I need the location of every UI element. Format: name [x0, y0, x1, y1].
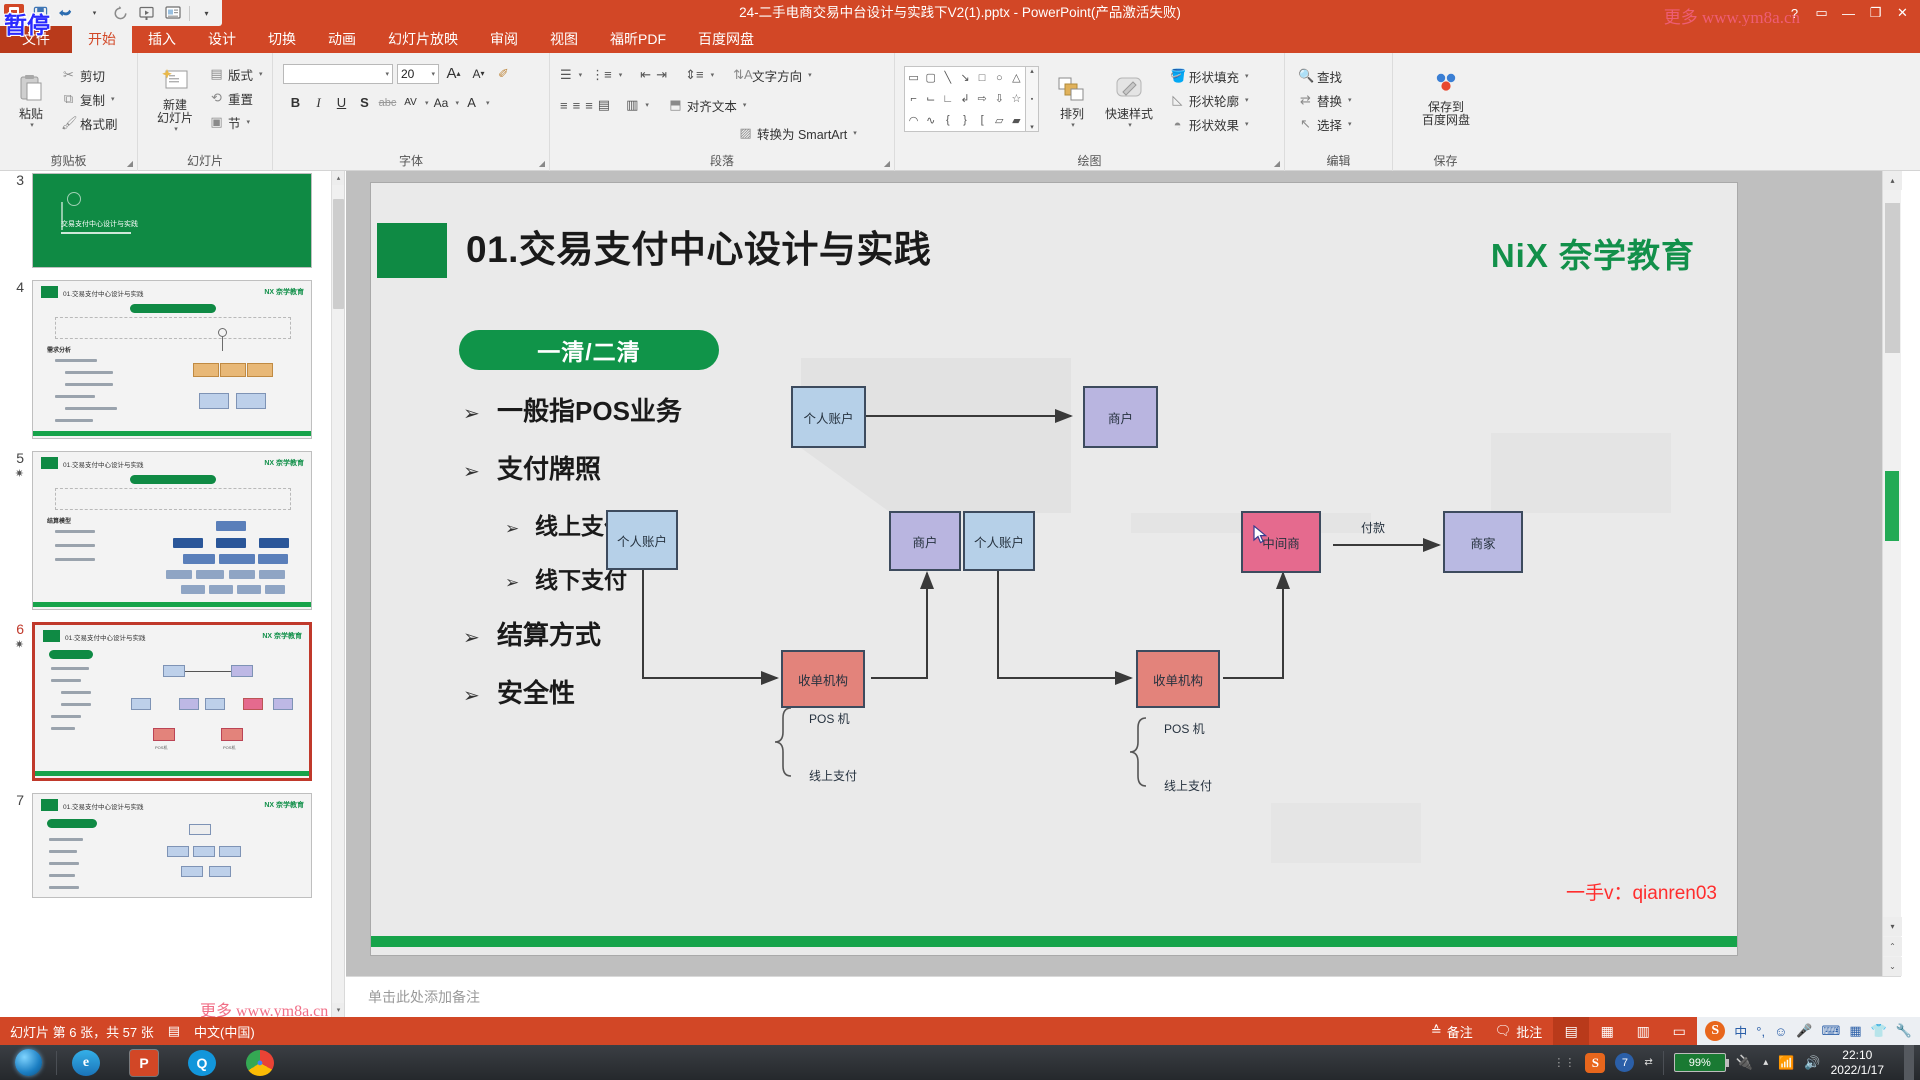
layout-label: 版式 — [228, 65, 253, 84]
taskbar-clock[interactable]: 22:10 2022/1/17 — [1831, 1048, 1890, 1078]
shape-outline-label: 形状轮廓 — [1189, 91, 1239, 110]
qat-divider — [189, 6, 190, 21]
bullet-marker-icon: ➢ — [505, 573, 535, 593]
thumb-pill — [49, 650, 93, 659]
tab-slideshow[interactable]: 幻灯片放映 — [372, 26, 474, 53]
ime-settings-icon[interactable]: 🔧 — [1896, 1023, 1912, 1039]
shape-roundrect-icon[interactable]: ▢ — [926, 71, 936, 84]
brace-label-online-pay-2: 线上支付 — [1164, 777, 1212, 794]
columns-dropdown-icon[interactable]: ▾ — [645, 101, 649, 109]
clock-date: 2022/1/17 — [1831, 1063, 1884, 1077]
thumbnail-row[interactable]: 6 ✷ 01.交易支付中心设计与实践 NX 奈学教育 — [0, 616, 344, 787]
start-slideshow-icon[interactable] — [137, 4, 156, 23]
tray-security-icon[interactable]: 7 — [1615, 1053, 1634, 1072]
line-spacing-icon[interactable]: ⇕≡ — [685, 67, 703, 83]
paintbrush-icon: 🖌 — [61, 115, 76, 131]
edge-label-payment: 付款 — [1361, 519, 1385, 536]
replace-dropdown-icon[interactable]: ▾ — [1348, 96, 1352, 104]
tab-animations[interactable]: 动画 — [312, 26, 372, 53]
current-slide[interactable]: 01.交易支付中心设计与实践 NiX 奈学教育 一清/二清 ➢ 一般指POS业务… — [371, 183, 1737, 955]
scissors-icon: ✂ — [61, 67, 76, 83]
bullets-icon[interactable]: ☰ — [560, 67, 572, 83]
comment-bubble-icon: 🗨 — [1495, 1023, 1512, 1039]
format-painter-label: 格式刷 — [80, 114, 118, 133]
ime-emoji-icon[interactable]: ☺ — [1774, 1024, 1787, 1039]
font-color-dropdown-icon[interactable]: ▾ — [486, 99, 490, 107]
shape-arrow-icon[interactable]: ↘ — [960, 71, 969, 84]
network-icon[interactable]: 📶 — [1778, 1055, 1794, 1071]
numbering-dropdown-icon[interactable]: ▾ — [619, 71, 623, 79]
slide-thumbnail-3[interactable]: 交易支付中心设计与实践 — [32, 173, 312, 268]
shape-star-icon[interactable]: ☆ — [1011, 92, 1021, 105]
copy-dropdown-icon[interactable]: ▾ — [111, 95, 115, 103]
tray-overflow-icon[interactable]: ⋮⋮ — [1553, 1056, 1575, 1069]
thumb-heading: 需求分析 — [47, 345, 71, 354]
text-direction-button[interactable]: ⇅A 文字方向 ▾ — [730, 63, 815, 87]
font-size-value: 20 — [401, 67, 414, 81]
diagram-node-merchant-1[interactable]: 商户 — [1083, 386, 1158, 448]
font-size-input[interactable]: 20 ▾ — [397, 64, 439, 84]
scroll-down-icon[interactable]: ▾ — [1883, 917, 1902, 936]
ribbon-group-paragraph: ☰▾ ⋮≡▾ ⇤ ⇥ ⇕≡▾ ⇅A 文字方向 ▾ ≡ ≡ ≡ ▤ — [550, 53, 895, 171]
next-slide-button[interactable]: ⌄ — [1883, 957, 1902, 976]
text-direction-icon: ⇅A — [733, 67, 748, 83]
cursor-arrow-icon: ↖ — [1298, 116, 1313, 132]
shape-brace-right-icon[interactable]: } — [963, 114, 967, 126]
thumbnail-row[interactable]: 3 交易支付中心设计与实践 — [0, 171, 344, 274]
notes-pane[interactable]: 单击此处添加备注 — [346, 976, 1901, 1017]
ime-mode-icon[interactable]: 中 — [1734, 1022, 1747, 1041]
slide-title[interactable]: 01.交易支付中心设计与实践 — [466, 219, 931, 273]
ime-punctuation-icon[interactable]: °, — [1756, 1024, 1765, 1039]
tab-view[interactable]: 视图 — [534, 26, 594, 53]
section-pill[interactable]: 一清/二清 — [459, 330, 719, 370]
character-spacing-button[interactable]: AV — [400, 92, 421, 113]
align-right-icon[interactable]: ≡ — [585, 98, 593, 113]
panel-watermark: 更多 www.ym8a.cn — [200, 997, 328, 1017]
redo-icon[interactable] — [111, 4, 130, 23]
view-slideshow-button[interactable]: ▭ — [1661, 1017, 1697, 1045]
tab-foxit-pdf[interactable]: 福昕PDF — [594, 26, 682, 53]
shape-triangle-icon[interactable]: △ — [1012, 71, 1020, 84]
find-button[interactable]: 🔍 查找 — [1295, 64, 1392, 88]
layout-button[interactable]: ▤ 版式 ▾ — [206, 62, 266, 86]
thumbnail-number: 4 — [16, 279, 24, 295]
show-desktop-button[interactable] — [1904, 1045, 1914, 1080]
bullet-item[interactable]: ➢ 一般指POS业务 — [463, 391, 793, 428]
panel-scroll-thumb[interactable] — [333, 199, 344, 309]
binoculars-icon: 🔍 — [1298, 68, 1313, 84]
powerpoint-taskbar-icon: P — [130, 1050, 158, 1076]
shape-arc-icon[interactable]: ◠ — [909, 114, 919, 127]
comments-toggle-button[interactable]: 🗨 批注 — [1484, 1017, 1554, 1045]
outline-pen-icon: ◺ — [1170, 92, 1185, 108]
slide-thumbnail-panel[interactable]: 3 交易支付中心设计与实践 4 01.交易支付中心设计与实践 NX 奈学教育 — [0, 171, 345, 1017]
shape-connector-icon[interactable]: ⌐ — [910, 93, 916, 105]
strikethrough-button[interactable]: abc — [377, 92, 398, 113]
bullets-dropdown-icon[interactable]: ▾ — [579, 71, 583, 79]
system-tray: ⋮⋮ S 7 ⇄ 99% 🔌 ▴ 📶 🔊 22:10 2022/1/17 — [1553, 1045, 1920, 1080]
italic-button[interactable]: I — [308, 92, 329, 113]
shape-rect-icon[interactable]: ▭ — [908, 71, 918, 84]
shapes-scroll-thumb-icon[interactable]: ▪ — [1031, 96, 1033, 103]
shapes-gallery-scrollbar[interactable]: ▴ ▪ ▾ — [1026, 66, 1039, 132]
tab-home[interactable]: 开始 — [72, 26, 132, 53]
taskbar-item-edge[interactable]: e — [57, 1045, 115, 1080]
new-slide-qat-icon[interactable] — [163, 4, 182, 23]
align-text-dropdown-icon[interactable]: ▾ — [743, 101, 747, 109]
undo-dropdown-icon[interactable]: ▾ — [85, 4, 104, 23]
sogou-logo-icon[interactable]: S — [1705, 1021, 1725, 1041]
tab-insert[interactable]: 插入 — [132, 26, 192, 53]
slides-group-label: 幻灯片 — [138, 152, 272, 169]
edge-browser-icon: e — [72, 1050, 100, 1076]
restore-button[interactable]: ❐ — [1868, 5, 1883, 21]
tray-sync-icon[interactable]: ⇄ — [1644, 1057, 1652, 1068]
save-to-baidu-button[interactable]: 保存到百度网盘 — [1407, 63, 1485, 127]
bullet-item[interactable]: ➢ 结算方式 — [463, 615, 793, 652]
start-button[interactable] — [0, 1045, 56, 1080]
thumbnail-number: 7 — [16, 792, 24, 808]
tab-design[interactable]: 设计 — [192, 26, 252, 53]
copy-label: 复制 — [80, 90, 105, 109]
sogou-ime-toolbar[interactable]: S 中 °, ☺ 🎤 ⌨ ▦ 👕 🔧 — [1697, 1017, 1920, 1045]
bullet-text: 结算方式 — [497, 615, 601, 652]
diagram-node-personal-account-1[interactable]: 个人账户 — [791, 386, 866, 448]
font-dialog-launcher[interactable]: ◢ — [539, 159, 545, 168]
ribbon-tab-strip: 文件 开始 插入 设计 切换 动画 幻灯片放映 审阅 视图 福昕PDF 百度网盘… — [0, 26, 1920, 53]
view-slide-sorter-button[interactable]: ▦ — [1589, 1017, 1625, 1045]
text-direction-dropdown-icon[interactable]: ▾ — [808, 71, 812, 79]
shape-outline-dropdown-icon[interactable]: ▾ — [1245, 96, 1249, 104]
bullet-marker-icon: ➢ — [463, 625, 497, 650]
undo-icon[interactable] — [57, 4, 76, 23]
shape-square-icon[interactable]: □ — [979, 72, 986, 84]
font-size-dropdown-icon[interactable]: ▾ — [431, 70, 435, 78]
justify-icon[interactable]: ▤ — [598, 97, 610, 113]
thumb-red-note — [45, 590, 195, 596]
shape-bracket-icon[interactable]: [ — [981, 114, 984, 126]
slide-accent-square — [377, 223, 447, 278]
select-button[interactable]: ↖ 选择 ▾ — [1295, 112, 1392, 136]
shape-brace-left-icon[interactable]: { — [946, 114, 950, 126]
thumb-bottom-bar — [35, 771, 309, 776]
taskbar-item-chrome[interactable]: ● — [231, 1045, 289, 1080]
minimize-button[interactable]: — — [1841, 6, 1856, 21]
shape-outline-button[interactable]: ◺ 形状轮廓 ▾ — [1167, 88, 1252, 112]
tab-review[interactable]: 审阅 — [474, 26, 534, 53]
bullet-text: 安全性 — [497, 673, 575, 710]
ribbon: 粘贴 ▾ ✂ 剪切 ⧉ 复制 ▾ 🖌 格式刷 — [0, 53, 1920, 171]
cut-button[interactable]: ✂ 剪切 — [58, 63, 121, 87]
character-spacing-dropdown-icon[interactable]: ▾ — [425, 99, 429, 107]
ribbon-display-options-icon[interactable]: ▭ — [1814, 5, 1829, 21]
ime-microphone-icon[interactable]: 🎤 — [1796, 1023, 1812, 1039]
window-controls: ? ▭ — ❐ ✕ — [1787, 0, 1916, 26]
clipboard-dialog-launcher[interactable]: ◢ — [127, 159, 133, 168]
slide-panel-scrollbar[interactable]: ▴ ▾ — [331, 171, 344, 1017]
select-dropdown-icon[interactable]: ▾ — [1348, 120, 1352, 128]
section-icon: ▣ — [209, 114, 224, 130]
thumb-title: 01.交易支付中心设计与实践 — [63, 459, 144, 469]
clear-formatting-icon[interactable]: ✐ — [493, 63, 514, 84]
paste-button[interactable]: 粘贴 ▾ — [8, 68, 54, 129]
shape-elbow-icon[interactable]: ⌙ — [926, 92, 935, 105]
fill-bucket-icon: 🪣 — [1170, 68, 1185, 84]
diagram-node-personal-account-3[interactable]: 个人账户 — [963, 511, 1035, 571]
reset-icon: ⟲ — [209, 90, 224, 106]
increase-font-size-button[interactable]: A▴ — [443, 63, 464, 84]
shape-line-icon[interactable]: ╲ — [945, 71, 952, 84]
brace-label-pos-2: POS 机 — [1164, 720, 1205, 737]
notes-placeholder: 单击此处添加备注 — [368, 987, 480, 1007]
text-direction-label: 文字方向 — [752, 66, 802, 85]
ribbon-group-font: ▾ 20 ▾ A▴ A▾ ✐ B I U S abc AV ▾ Aa ▾ — [273, 53, 550, 171]
diagram-node-acquirer-2[interactable]: 收单机构 — [1136, 650, 1220, 708]
shapes-gallery-more-icon[interactable]: ▾ — [1030, 123, 1034, 131]
customize-qat-icon[interactable]: ▾ — [197, 4, 216, 23]
nx-logo: NiX 奈学教育 — [1491, 229, 1695, 277]
diagram-node-personal-account-2[interactable]: 个人账户 — [606, 510, 678, 570]
shape-down-arrow-icon[interactable]: ⇩ — [995, 92, 1004, 105]
ribbon-group-editing: 🔍 查找 ⇄ 替换 ▾ ↖ 选择 ▾ 编辑 — [1285, 53, 1393, 171]
qq-icon: Q — [188, 1050, 216, 1076]
new-slide-button[interactable]: 新建幻灯片 ▾ — [146, 61, 204, 133]
bold-button[interactable]: B — [285, 92, 306, 113]
ime-skin-icon[interactable]: 👕 — [1871, 1023, 1887, 1039]
paste-icon — [18, 74, 44, 108]
ribbon-group-save: 保存到百度网盘 保存 — [1393, 53, 1498, 171]
view-reading-button[interactable]: ▥ — [1625, 1017, 1661, 1045]
replace-label: 替换 — [1317, 91, 1342, 110]
arrange-dropdown-icon[interactable]: ▾ — [1071, 121, 1075, 129]
decrease-indent-icon[interactable]: ⇤ — [640, 67, 651, 83]
tray-sogou-icon[interactable]: S — [1585, 1053, 1605, 1073]
font-color-button[interactable]: A — [461, 92, 482, 113]
thumb-title: 01.交易支付中心设计与实践 — [63, 288, 144, 298]
thumb-accent-square — [41, 799, 58, 811]
effects-icon: ◓ — [1170, 117, 1185, 132]
battery-indicator[interactable]: 99% — [1674, 1053, 1726, 1072]
align-text-button[interactable]: ⬒ 对齐文本 ▾ — [665, 93, 750, 117]
slide-thumbnail-7[interactable]: 01.交易支付中心设计与实践 NX 奈学教育 — [32, 793, 312, 898]
section-dropdown-icon[interactable]: ▾ — [247, 118, 251, 126]
replace-icon: ⇄ — [1298, 92, 1313, 108]
thumb-pill — [130, 475, 216, 484]
bullet-marker-icon: ➢ — [463, 459, 497, 484]
shapes-gallery[interactable]: ▭ ▢ ╲ ↘ □ ○ △ ⌐ ⌙ ∟ ↲ ⇨ ⇩ ☆ ◠ ∿ { — [904, 66, 1026, 132]
shape-right-arrow-icon[interactable]: ⇨ — [978, 92, 987, 105]
mouse-cursor-icon — [1253, 525, 1269, 545]
font-name-dropdown-icon[interactable]: ▾ — [385, 70, 389, 78]
shape-fill-button[interactable]: 🪣 形状填充 ▾ — [1167, 64, 1252, 88]
slide-thumbnail-5[interactable]: 01.交易支付中心设计与实践 NX 奈学教育 结算模型 — [32, 451, 312, 610]
brace-label-pos-1: POS 机 — [809, 710, 850, 727]
align-left-icon[interactable]: ≡ — [560, 98, 568, 113]
help-icon[interactable]: ? — [1787, 6, 1802, 21]
thumb-logo: NX 奈学教育 — [264, 800, 304, 810]
shape-callout-icon[interactable]: ▱ — [995, 114, 1003, 127]
tab-transitions[interactable]: 切换 — [252, 26, 312, 53]
slide-vertical-scrollbar[interactable]: ▴ ▾ ⌃ ⌄ — [1882, 171, 1901, 976]
view-normal-button[interactable]: ▤ — [1553, 1017, 1589, 1045]
slide-thumbnail-4[interactable]: 01.交易支付中心设计与实践 NX 奈学教育 需求分析 — [32, 280, 312, 439]
cut-label: 剪切 — [80, 66, 105, 85]
thumb-accent-square — [43, 630, 60, 642]
reset-button[interactable]: ⟲ 重置 — [206, 86, 266, 110]
line-spacing-dropdown-icon[interactable]: ▾ — [711, 71, 715, 79]
new-slide-label-line2: 幻灯片 — [157, 111, 193, 125]
section-button[interactable]: ▣ 节 ▾ — [206, 110, 266, 134]
taskbar-item-qq[interactable]: Q — [173, 1045, 231, 1080]
slide-thumbnail-6[interactable]: 01.交易支付中心设计与实践 NX 奈学教育 — [32, 622, 312, 781]
slide-edit-area[interactable]: 01.交易支付中心设计与实践 NiX 奈学教育 一清/二清 ➢ 一般指POS业务… — [346, 171, 1901, 976]
increase-indent-icon[interactable]: ⇥ — [656, 67, 667, 83]
underline-button[interactable]: U — [331, 92, 352, 113]
node-label: 商家 — [1470, 533, 1495, 552]
panel-scroll-up-icon[interactable]: ▴ — [332, 171, 345, 185]
layout-status-icon[interactable]: ▤ — [168, 1023, 180, 1039]
thumb-paragraph-box — [55, 488, 291, 510]
tray-divider — [1663, 1051, 1664, 1075]
paste-label: 粘贴 — [19, 108, 43, 121]
bullet-text: 支付牌照 — [497, 449, 601, 486]
numbering-icon[interactable]: ⋮≡ — [587, 67, 612, 83]
tab-baidu-netdisk[interactable]: 百度网盘 — [682, 26, 770, 53]
shape-effects-button[interactable]: ◓ 形状效果 ▾ — [1167, 112, 1252, 136]
decrease-font-size-button[interactable]: A▾ — [468, 63, 489, 84]
shape-curve-icon[interactable]: ↲ — [960, 92, 969, 105]
new-slide-label-line1: 新建 — [163, 98, 187, 112]
section-label: 节 — [228, 113, 241, 132]
slide-watermark-contact: 一手v：qianren03 — [1566, 878, 1717, 905]
scroll-thumb[interactable] — [1885, 203, 1900, 353]
drawing-group-label: 绘图 — [895, 152, 1284, 169]
thumbnail-number: 3 — [16, 172, 24, 188]
thumb-title: 01.交易支付中心设计与实践 — [63, 801, 144, 811]
bullet-item[interactable]: ➢ 安全性 — [463, 673, 793, 710]
baidu-netdisk-icon — [1431, 69, 1461, 101]
brace-label-online-pay-1: 线上支付 — [809, 767, 857, 784]
change-case-button[interactable]: Aa — [431, 92, 452, 113]
clock-time: 22:10 — [1842, 1048, 1872, 1062]
power-plug-icon[interactable]: 🔌 — [1736, 1054, 1753, 1071]
ribbon-tabs: 文件 开始 插入 设计 切换 动画 幻灯片放映 审阅 视图 福昕PDF 百度网盘 — [0, 26, 1920, 53]
shape-banner-icon[interactable]: ▰ — [1012, 114, 1020, 127]
format-painter-button[interactable]: 🖌 格式刷 — [58, 111, 121, 135]
ime-keyboard-icon[interactable]: ⌨ — [1822, 1023, 1841, 1039]
status-right: ≙ 备注 🗨 批注 ▤ ▦ ▥ ▭ S 中 °, ☺ 🎤 ⌨ ▦ 👕 🔧 — [1420, 1017, 1920, 1045]
slide-counter[interactable]: 幻灯片 第 6 张，共 57 张 — [10, 1022, 154, 1041]
smartart-dropdown-icon[interactable]: ▾ — [853, 129, 857, 137]
select-label: 选择 — [1317, 115, 1342, 134]
shape-oval-icon[interactable]: ○ — [996, 72, 1003, 84]
align-text-label: 对齐文本 — [687, 96, 737, 115]
shape-wave-icon[interactable]: ∿ — [926, 114, 935, 127]
paste-dropdown-icon[interactable]: ▾ — [30, 121, 34, 129]
thumb-pill — [47, 819, 97, 828]
show-hidden-icons-button[interactable]: ▴ — [1763, 1057, 1768, 1068]
thumbnail-row[interactable]: 4 01.交易支付中心设计与实践 NX 奈学教育 需求分析 — [0, 274, 344, 445]
slide-bottom-bar — [371, 936, 1737, 947]
save-baidu-line1: 保存到 — [1428, 100, 1464, 114]
thumb-heading: 结算模型 — [47, 516, 71, 525]
new-slide-icon — [160, 67, 190, 99]
columns-icon[interactable]: ▥ — [626, 97, 638, 113]
convert-smartart-label: 转换为 SmartArt — [757, 124, 847, 143]
bullet-item[interactable]: ➢ 支付牌照 — [463, 449, 793, 486]
align-text-icon: ⬒ — [668, 97, 683, 113]
font-group-label: 字体 — [273, 152, 549, 169]
font-name-input[interactable]: ▾ — [283, 64, 393, 84]
scroll-up-icon[interactable]: ▴ — [1883, 171, 1902, 190]
ime-toolbox-icon[interactable]: ▦ — [1849, 1023, 1861, 1039]
quick-styles-dropdown-icon[interactable]: ▾ — [1128, 121, 1132, 129]
volume-icon[interactable]: 🔊 — [1804, 1055, 1820, 1071]
node-label: 收单机构 — [1153, 670, 1203, 689]
shape-effects-dropdown-icon[interactable]: ▾ — [1245, 120, 1249, 128]
drawing-dialog-launcher[interactable]: ◢ — [1274, 159, 1280, 168]
node-label: 个人账户 — [617, 531, 667, 550]
arrange-button[interactable]: 排列 ▾ — [1039, 70, 1097, 129]
previous-slide-button[interactable]: ⌃ — [1883, 937, 1902, 956]
scroll-marker — [1885, 471, 1899, 541]
workspace: 3 交易支付中心设计与实践 4 01.交易支付中心设计与实践 NX 奈学教育 — [0, 171, 1920, 1017]
copy-icon: ⧉ — [61, 91, 76, 107]
thumb-bottom-bar — [33, 431, 311, 436]
ribbon-group-drawing: ▭ ▢ ╲ ↘ □ ○ △ ⌐ ⌙ ∟ ↲ ⇨ ⇩ ☆ ◠ ∿ { — [895, 53, 1285, 171]
arrange-icon — [1057, 76, 1087, 108]
diagram-node-acquirer-1[interactable]: 收单机构 — [781, 650, 865, 708]
notes-label: 备注 — [1447, 1022, 1473, 1041]
new-slide-dropdown-icon[interactable]: ▾ — [174, 125, 178, 133]
panel-scroll-down-icon[interactable]: ▾ — [332, 1003, 345, 1017]
reset-label: 重置 — [228, 89, 253, 108]
layout-dropdown-icon[interactable]: ▾ — [259, 70, 263, 78]
thumbnail-animation-star-icon: ✷ — [6, 638, 24, 652]
copy-button[interactable]: ⧉ 复制 ▾ — [58, 87, 121, 111]
paragraph-group-label: 段落 — [550, 152, 894, 169]
chrome-icon: ● — [246, 1050, 274, 1076]
change-case-dropdown-icon[interactable]: ▾ — [456, 99, 460, 107]
shape-fill-dropdown-icon[interactable]: ▾ — [1245, 72, 1249, 80]
thumbnail-row[interactable]: 5 ✷ 01.交易支付中心设计与实践 NX 奈学教育 结算模型 — [0, 445, 344, 616]
thumbnail-row[interactable]: 7 01.交易支付中心设计与实践 NX 奈学教育 — [0, 787, 344, 904]
shape-angle-icon[interactable]: ∟ — [942, 93, 953, 105]
thumb-accent-square — [41, 457, 58, 469]
align-center-icon[interactable]: ≡ — [573, 98, 581, 113]
comments-label: 批注 — [1516, 1022, 1542, 1041]
taskbar-item-powerpoint[interactable]: P — [115, 1045, 173, 1080]
convert-smartart-button[interactable]: ▨ 转换为 SmartArt ▾ — [735, 121, 860, 145]
replace-button[interactable]: ⇄ 替换 ▾ — [1295, 88, 1392, 112]
text-shadow-button[interactable]: S — [354, 92, 375, 113]
title-watermark: 更多 www.ym8a.cn — [1664, 3, 1800, 28]
thumbnail-number: 6 — [16, 621, 24, 637]
layout-icon: ▤ — [209, 66, 224, 82]
diagram-node-seller[interactable]: 商家 — [1443, 511, 1523, 573]
paragraph-dialog-launcher[interactable]: ◢ — [884, 159, 890, 168]
thumb-pill — [130, 304, 216, 313]
language-status[interactable]: 中文(中国) — [194, 1022, 255, 1041]
document-title: 24-二手电商交易中台设计与实践下V2(1).pptx - PowerPoint… — [0, 0, 1920, 26]
quick-styles-button[interactable]: 快速样式 ▾ — [1097, 70, 1161, 129]
diagram-node-merchant-2[interactable]: 商户 — [889, 511, 961, 571]
notes-toggle-button[interactable]: ≙ 备注 — [1420, 1017, 1484, 1045]
shapes-scroll-up-icon[interactable]: ▴ — [1030, 67, 1034, 75]
quick-styles-icon — [1113, 76, 1145, 108]
close-button[interactable]: ✕ — [1895, 5, 1910, 21]
